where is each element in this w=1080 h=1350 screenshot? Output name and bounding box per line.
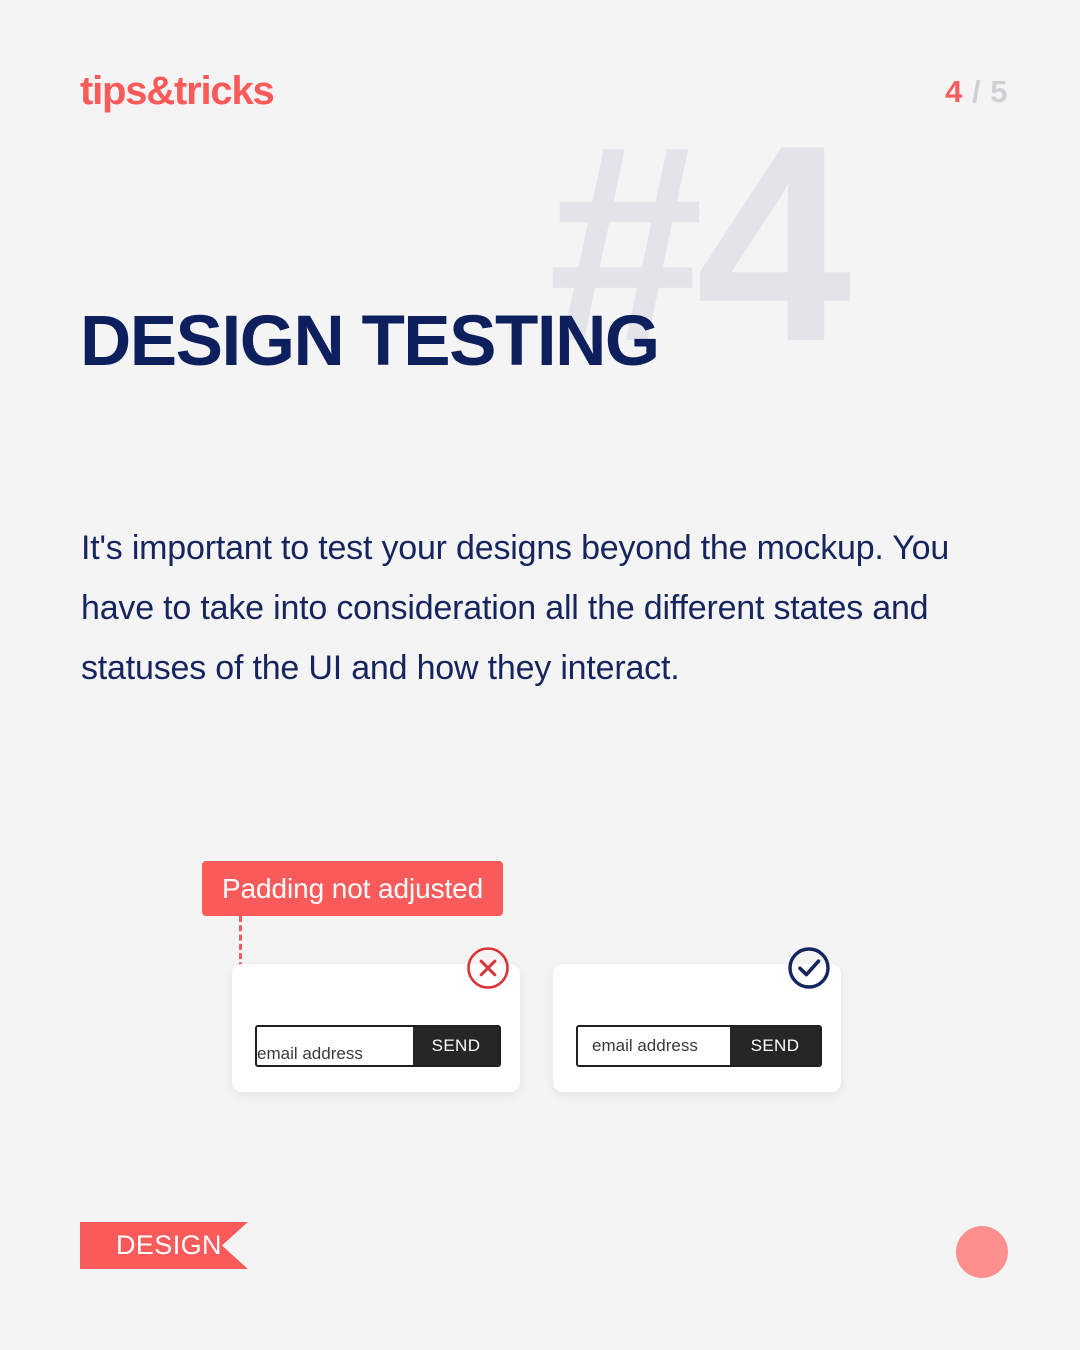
- email-signup-form-error[interactable]: email address SEND: [255, 1025, 501, 1067]
- page-counter-total: 5: [990, 74, 1008, 109]
- annotation-label: Padding not adjusted: [222, 873, 483, 905]
- demo-card-error: email address SEND: [232, 964, 520, 1092]
- x-circle-icon: [466, 946, 510, 990]
- category-tag-label: DESIGN: [116, 1230, 222, 1261]
- send-button-error[interactable]: SEND: [413, 1027, 499, 1065]
- slide-root: tips&tricks 4 / 5 #4 DESIGN TESTING It's…: [0, 0, 1080, 1350]
- category-tag: DESIGN: [80, 1222, 248, 1269]
- annotation-badge: Padding not adjusted: [202, 861, 503, 916]
- page-counter-separator: /: [972, 74, 981, 109]
- page-counter-current: 4: [945, 74, 963, 109]
- demo-card-success: email address SEND: [553, 964, 841, 1092]
- email-signup-form-success[interactable]: email address SEND: [576, 1025, 822, 1067]
- email-input-success[interactable]: email address: [578, 1027, 730, 1065]
- send-button-success[interactable]: SEND: [730, 1027, 820, 1065]
- body-paragraph: It's important to test your designs beyo…: [81, 518, 961, 698]
- page-counter: 4 / 5: [945, 76, 1008, 107]
- email-input-placeholder: email address: [592, 1036, 698, 1056]
- page-title: DESIGN TESTING: [80, 306, 659, 377]
- check-circle-icon: [787, 946, 831, 990]
- email-input-placeholder: email address: [257, 1044, 363, 1064]
- email-input-error[interactable]: email address: [257, 1027, 413, 1065]
- brand-logo: tips&tricks: [80, 71, 274, 111]
- decorative-dot: [956, 1226, 1008, 1278]
